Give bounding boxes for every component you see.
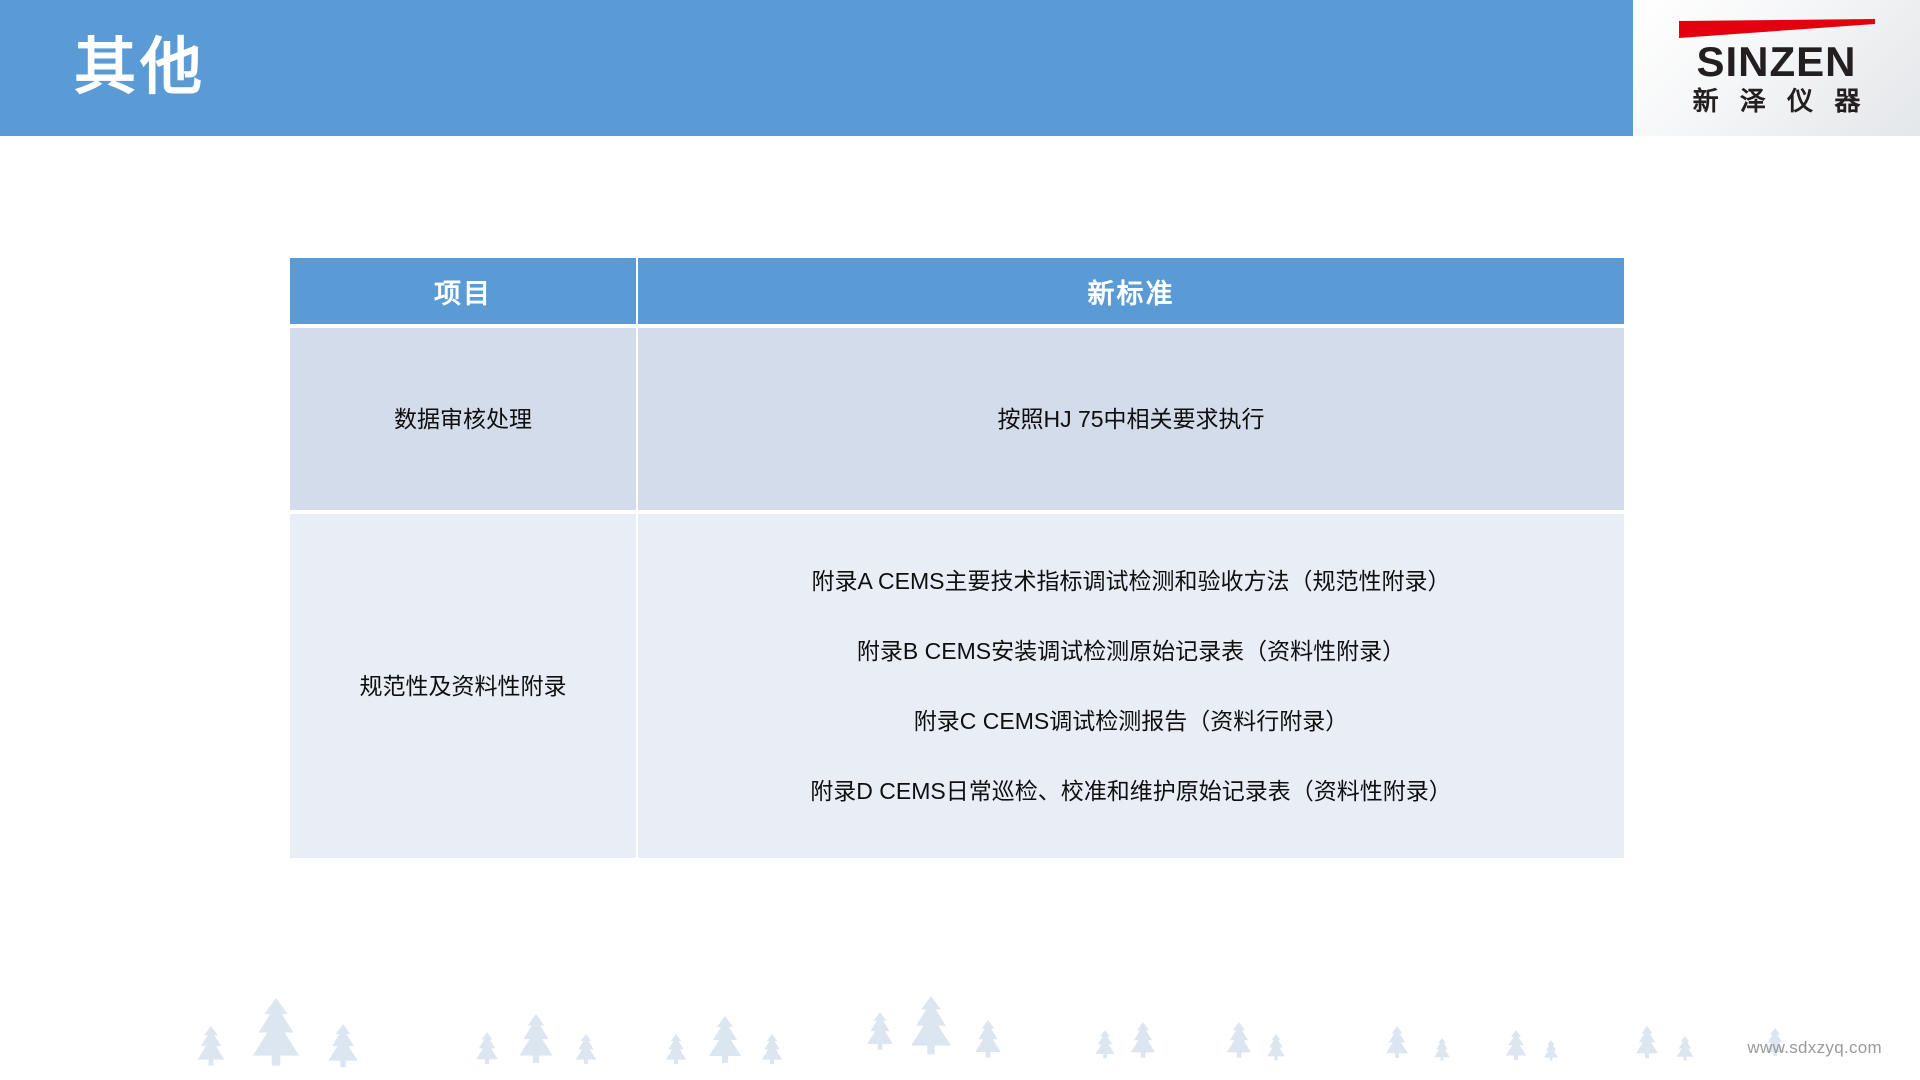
row2-item-text: 规范性及资料性附录: [360, 673, 567, 699]
logo-subtitle: 新 泽 仪 器: [1686, 85, 1868, 117]
row1-item-text: 数据审核处理: [394, 406, 532, 432]
website-url: www.sdxzyq.com: [1747, 1038, 1882, 1058]
slide-canvas: 其他 SINZEN 新 泽 仪 器 项目 新标准 数据审核处理: [0, 0, 1920, 1080]
logo-wordmark: SINZEN: [1696, 40, 1856, 84]
pine-tree-decoration-icon: [0, 950, 1920, 1080]
company-logo: SINZEN 新 泽 仪 器: [1633, 0, 1920, 136]
table-header-standard: 新标准: [638, 258, 1624, 324]
comparison-table: 项目 新标准 数据审核处理 按照HJ 75中相关要求执行: [290, 258, 1624, 858]
table-header-item: 项目: [290, 258, 638, 324]
appendix-line-c: 附录C CEMS调试检测报告（资料行附录）: [638, 706, 1624, 736]
table-header-row: 项目 新标准: [290, 258, 1624, 324]
appendix-list: 附录A CEMS主要技术指标调试检测和验收方法（规范性附录） 附录B CEMS安…: [638, 552, 1624, 820]
row-item-label: 数据审核处理: [290, 328, 638, 510]
appendix-line-d: 附录D CEMS日常巡检、校准和维护原始记录表（资料性附录）: [638, 776, 1624, 806]
row-standard-content: 附录A CEMS主要技术指标调试检测和验收方法（规范性附录） 附录B CEMS安…: [638, 514, 1624, 858]
row-item-label: 规范性及资料性附录: [290, 514, 638, 858]
header-banner: 其他: [0, 0, 1633, 136]
table-row: 规范性及资料性附录 附录A CEMS主要技术指标调试检测和验收方法（规范性附录）…: [290, 514, 1624, 858]
appendix-line-b: 附录B CEMS安装调试检测原始记录表（资料性附录）: [638, 636, 1624, 666]
row-standard-content: 按照HJ 75中相关要求执行: [638, 328, 1624, 510]
logo-swoosh-icon: [1679, 19, 1875, 39]
row1-standard-text: 按照HJ 75中相关要求执行: [997, 406, 1264, 432]
page-title: 其他: [74, 20, 206, 116]
appendix-line-a: 附录A CEMS主要技术指标调试检测和验收方法（规范性附录）: [638, 566, 1624, 596]
table-row: 数据审核处理 按照HJ 75中相关要求执行: [290, 328, 1624, 510]
